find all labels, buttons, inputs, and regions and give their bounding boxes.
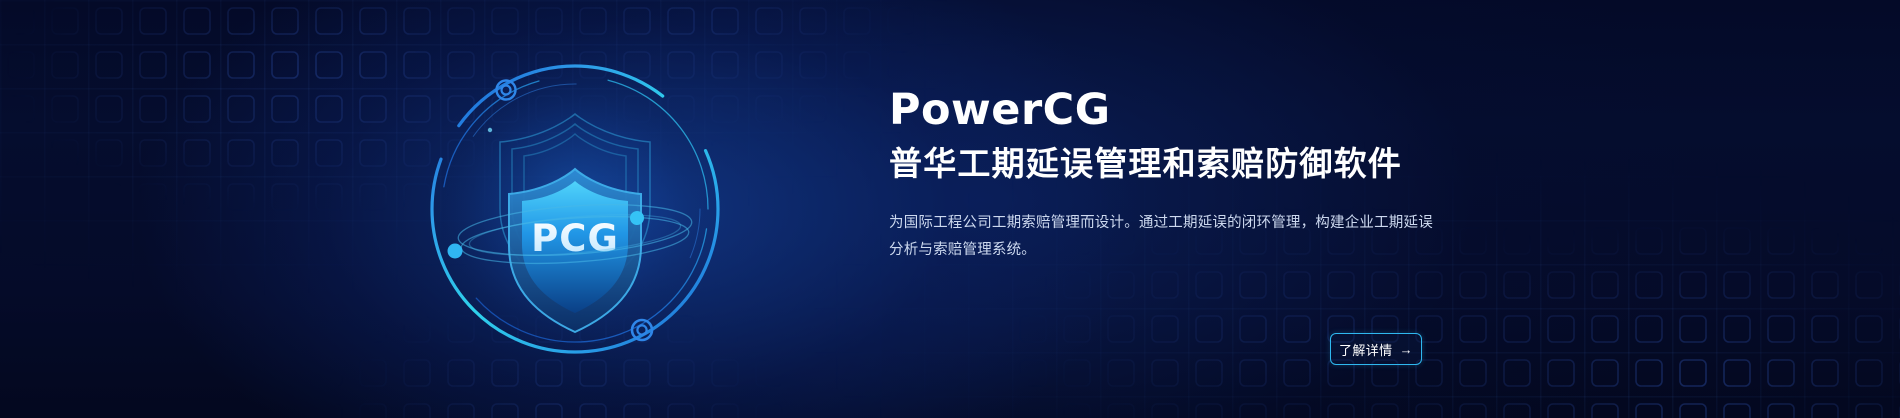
- learn-more-label: 了解详情: [1339, 340, 1393, 359]
- orbit-dot-small: [488, 128, 492, 132]
- hero-text-block: PowerCG 普华工期延误管理和索赔防御软件 为国际工程公司工期索赔管理而设计…: [889, 88, 1589, 263]
- hero-banner: PCG PowerCG 普华工期延误管理和索赔防御软件 为国际工程公司工期索赔管…: [0, 0, 1900, 418]
- orbit-dot-right: [630, 211, 644, 225]
- product-description: 为国际工程公司工期索赔管理而设计。通过工期延误的闭环管理，构建企业工期延误分析与…: [889, 210, 1434, 264]
- arrow-right-icon: →: [1400, 343, 1413, 356]
- product-headline: 普华工期延误管理和索赔防御软件: [889, 143, 1589, 184]
- pcg-shield-emblem: PCG: [414, 48, 736, 370]
- orbit-dot-left: [448, 244, 463, 259]
- learn-more-button[interactable]: 了解详情 →: [1330, 333, 1422, 365]
- product-brand-title: PowerCG: [889, 88, 1589, 134]
